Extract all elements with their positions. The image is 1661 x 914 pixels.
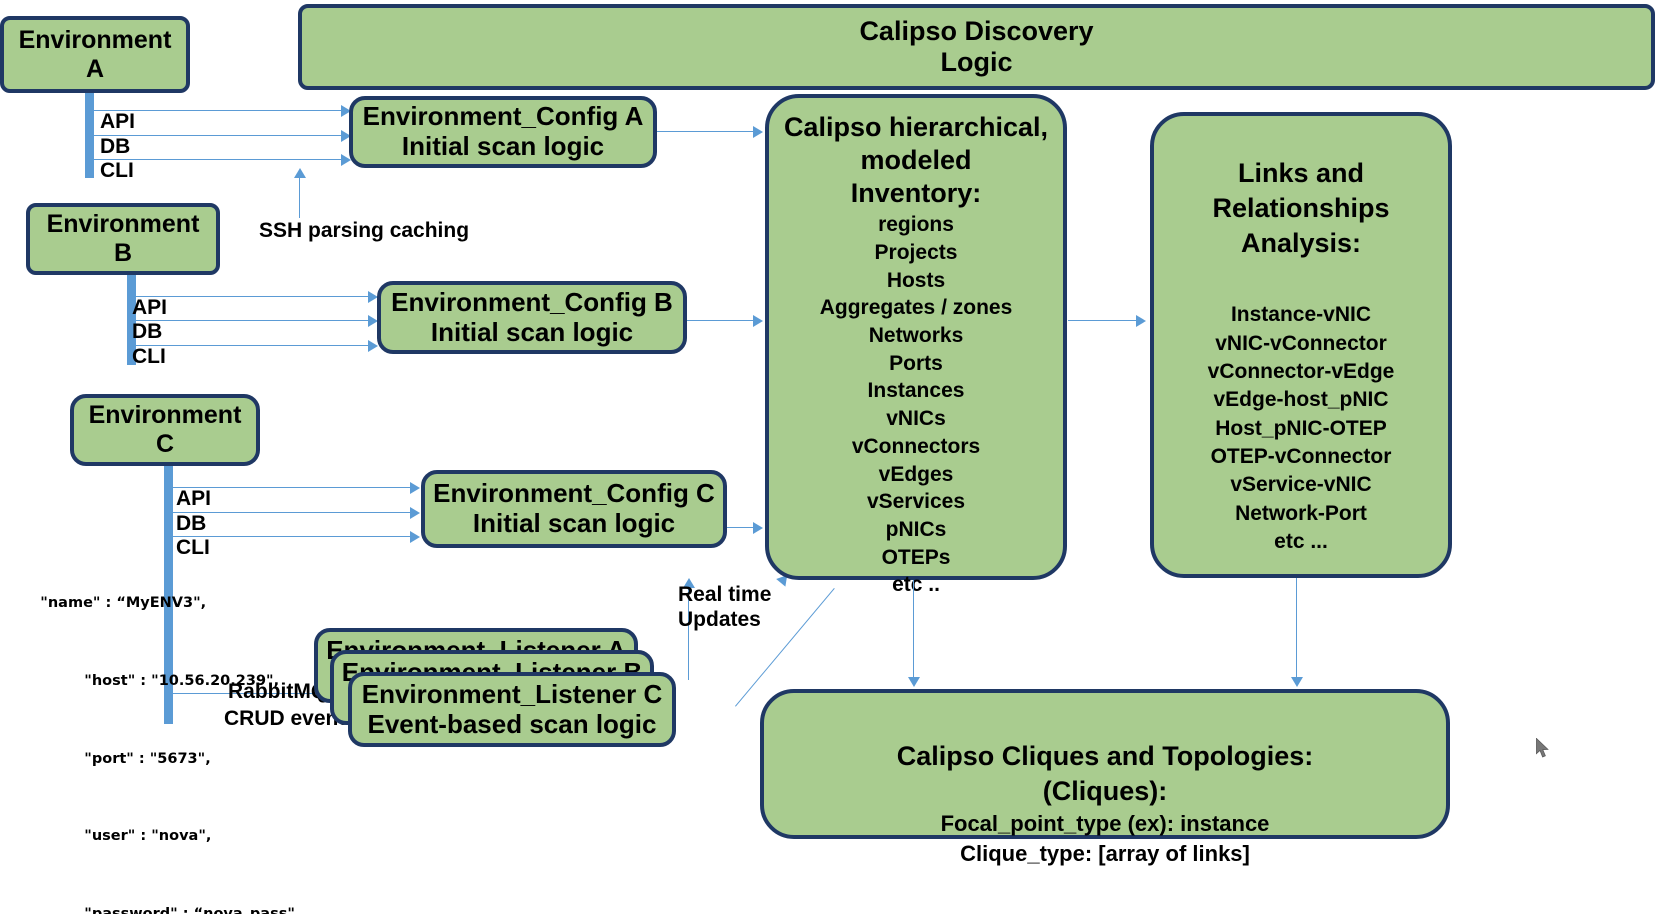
link-item: vService-vNIC bbox=[1230, 471, 1371, 499]
environment-b-box[interactable]: Environment B bbox=[26, 203, 220, 275]
inventory-title-2: modeled bbox=[860, 145, 971, 176]
link-item: Network-Port bbox=[1235, 500, 1367, 528]
env-a-db-label: DB bbox=[100, 135, 130, 159]
link-item: OTEP-vConnector bbox=[1211, 443, 1392, 471]
links-title-2: Relationships bbox=[1212, 191, 1389, 226]
env-c-db-arrowhead bbox=[410, 507, 420, 519]
env-c-cli-arrowhead bbox=[410, 531, 420, 543]
calipso-cliques-box[interactable]: Calipso Cliques and Topologies: (Cliques… bbox=[760, 689, 1450, 839]
links-title-3: Analysis: bbox=[1241, 226, 1361, 261]
env-b-api-label: API bbox=[132, 296, 167, 320]
env-b-cli-line bbox=[136, 345, 372, 346]
cliques-detail-1: Focal_point_type (ex): instance bbox=[941, 809, 1270, 839]
inventory-item: vServices bbox=[867, 488, 965, 516]
environment-a-channel-bar bbox=[85, 93, 94, 178]
config-b-to-inventory-line bbox=[687, 320, 757, 321]
cliques-title-1: Calipso Cliques and Topologies: bbox=[897, 739, 1314, 774]
inventory-item: vConnectors bbox=[852, 433, 980, 461]
environment-b-line-1: Environment bbox=[47, 210, 200, 239]
cliques-content: Calipso Cliques and Topologies: (Cliques… bbox=[897, 693, 1314, 835]
ssh-caching-arrowhead bbox=[294, 168, 306, 178]
environment-config-b-box[interactable]: Environment_Config B Initial scan logic bbox=[377, 281, 687, 354]
header-line-1: Calipso Discovery bbox=[859, 16, 1093, 47]
cliques-detail-2: Clique_type: [array of links] bbox=[960, 839, 1250, 869]
environment-b-line-2: B bbox=[114, 239, 132, 268]
inventory-to-cliques-line bbox=[913, 580, 914, 678]
header-line-2: Logic bbox=[941, 47, 1013, 78]
ssh-caching-label: SSH parsing caching bbox=[259, 219, 469, 243]
link-item: vNIC-vConnector bbox=[1215, 330, 1387, 358]
env-a-db-line bbox=[94, 135, 345, 136]
config-a-to-inventory-arrowhead bbox=[753, 126, 763, 138]
calipso-inventory-box[interactable]: Calipso hierarchical, modeled Inventory:… bbox=[765, 94, 1067, 580]
link-item: vEdge-host_pNIC bbox=[1213, 386, 1388, 414]
env-b-cli-label: CLI bbox=[132, 345, 166, 369]
inventory-to-links-arrowhead bbox=[1136, 315, 1146, 327]
links-relationships-box[interactable]: Links and Relationships Analysis: Instan… bbox=[1150, 112, 1452, 578]
listener-c-line-2: Event-based scan logic bbox=[368, 710, 657, 740]
json-line: "name" : “MyENV3", bbox=[10, 575, 362, 614]
inventory-item: Instances bbox=[868, 377, 965, 405]
environment-c-line-1: Environment bbox=[89, 401, 242, 430]
config-c-line-1: Environment_Config C bbox=[433, 479, 715, 509]
mouse-cursor bbox=[1536, 738, 1552, 765]
json-line: "user" : "nova", bbox=[10, 808, 362, 847]
json-line: "port" : "5673", bbox=[10, 730, 362, 769]
config-b-line-2: Initial scan logic bbox=[431, 318, 633, 348]
environment-config-a-box[interactable]: Environment_Config A Initial scan logic bbox=[349, 96, 657, 168]
env-c-db-label: DB bbox=[176, 512, 206, 536]
listener-c-line-1: Environment_Listener C bbox=[362, 680, 663, 710]
json-line: "host" : "10.56.20.239", bbox=[10, 653, 362, 692]
ssh-caching-line bbox=[299, 178, 300, 218]
env-c-api-label: API bbox=[176, 487, 211, 511]
inventory-item: Hosts bbox=[887, 267, 945, 295]
config-b-to-inventory-arrowhead bbox=[753, 315, 763, 327]
env-c-api-arrowhead bbox=[410, 482, 420, 494]
diagram-canvas: Calipso Discovery Logic Environment A AP… bbox=[0, 0, 1661, 914]
env-b-db-label: DB bbox=[132, 320, 162, 344]
links-title-1: Links and bbox=[1238, 156, 1364, 191]
json-line: "password" : “nova_pass" bbox=[10, 886, 362, 914]
env-b-api-line bbox=[136, 296, 372, 297]
inventory-item: vNICs bbox=[886, 405, 946, 433]
inventory-title-1: Calipso hierarchical, bbox=[784, 112, 1048, 143]
link-item: etc ... bbox=[1274, 528, 1328, 556]
inventory-item: regions bbox=[878, 211, 954, 239]
inventory-item: Networks bbox=[869, 322, 964, 350]
inventory-item: Aggregates / zones bbox=[820, 294, 1013, 322]
inventory-content: Calipso hierarchical, modeled Inventory:… bbox=[784, 98, 1048, 576]
link-item: vConnector-vEdge bbox=[1208, 358, 1395, 386]
link-item: Instance-vNIC bbox=[1231, 301, 1371, 329]
config-a-line-2: Initial scan logic bbox=[402, 132, 604, 162]
env-b-db-line bbox=[136, 320, 372, 321]
inventory-item: pNICs bbox=[886, 516, 947, 544]
realtime-updates-label-1: Real time bbox=[678, 583, 771, 607]
realtime-updates-label-2: Updates bbox=[678, 608, 761, 632]
inventory-to-links-line bbox=[1068, 320, 1140, 321]
inventory-item: etc .. bbox=[892, 571, 940, 599]
env-a-cli-label: CLI bbox=[100, 159, 134, 183]
environment-config-json: "name" : “MyENV3", "host" : "10.56.20.23… bbox=[10, 536, 362, 914]
environment-a-line-1: Environment bbox=[19, 26, 172, 55]
env-c-db-line bbox=[173, 512, 414, 513]
environment-a-box[interactable]: Environment A bbox=[0, 16, 190, 93]
link-item: Host_pNIC-OTEP bbox=[1215, 415, 1387, 443]
config-c-line-2: Initial scan logic bbox=[473, 509, 675, 539]
inventory-item: vEdges bbox=[879, 461, 954, 489]
calipso-discovery-logic-header: Calipso Discovery Logic bbox=[298, 4, 1655, 90]
inventory-item: OTEPs bbox=[882, 544, 951, 572]
config-c-to-inventory-arrowhead bbox=[753, 522, 763, 534]
env-a-api-label: API bbox=[100, 110, 135, 134]
environment-a-line-2: A bbox=[86, 55, 104, 84]
environment-config-c-box[interactable]: Environment_Config C Initial scan logic bbox=[421, 470, 727, 548]
inventory-item: Projects bbox=[875, 239, 958, 267]
config-a-line-1: Environment_Config A bbox=[363, 102, 644, 132]
inventory-to-cliques-arrowhead bbox=[908, 677, 920, 687]
links-to-cliques-arrowhead bbox=[1291, 677, 1303, 687]
config-a-to-inventory-line bbox=[657, 131, 757, 132]
environment-c-line-2: C bbox=[156, 430, 174, 459]
environment-listener-c-box[interactable]: Environment_Listener C Event-based scan … bbox=[348, 672, 676, 747]
cliques-title-2: (Cliques): bbox=[1043, 774, 1168, 809]
links-to-cliques-line bbox=[1296, 578, 1297, 678]
environment-c-box[interactable]: Environment C bbox=[70, 394, 260, 466]
cursor-arrow-icon bbox=[1536, 738, 1552, 760]
config-b-line-1: Environment_Config B bbox=[391, 288, 673, 318]
links-content: Links and Relationships Analysis: Instan… bbox=[1208, 116, 1395, 574]
inventory-item: Ports bbox=[889, 350, 943, 378]
inventory-title-3: Inventory: bbox=[851, 178, 982, 209]
